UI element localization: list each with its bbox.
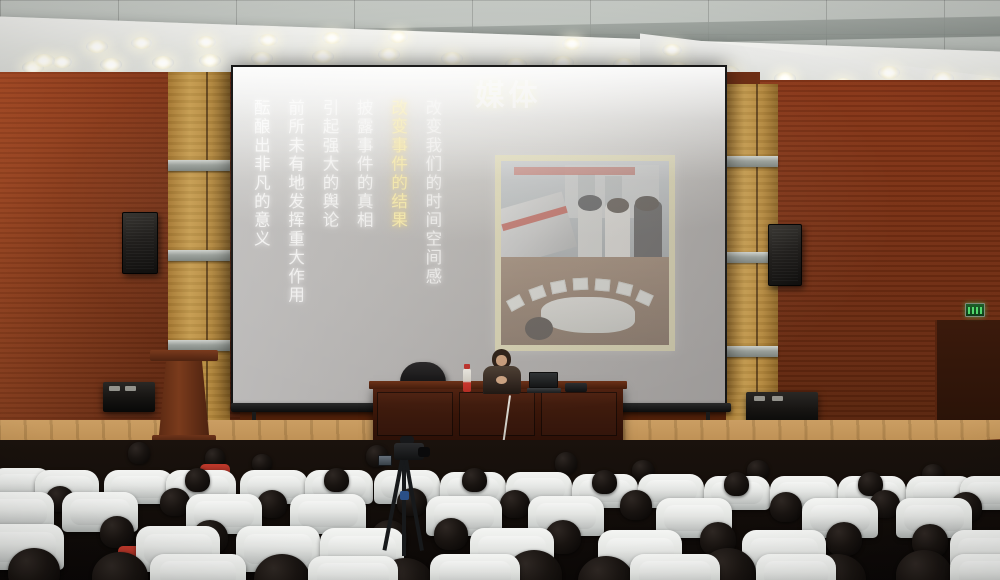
audience-member — [128, 442, 150, 464]
projection-screen: 媒体 改变我们的时间空间感 改变事件的结果 披露事件的真相 引起强大的舆论 前所… — [231, 65, 727, 405]
desk-equipment — [565, 383, 587, 392]
slide-photo-bottom — [501, 257, 669, 345]
wall-mounted-loudspeaker — [768, 224, 802, 286]
camera-lens — [418, 447, 430, 457]
ceiling-spotlight — [562, 38, 582, 50]
slide-column-2: 改变事件的结果 — [388, 99, 405, 230]
ceiling-spotlight — [131, 37, 152, 49]
audience-member — [100, 516, 134, 548]
audience-seat — [308, 556, 398, 580]
audience-member — [185, 468, 210, 492]
slide-column-1: 改变我们的时间空间感 — [423, 99, 440, 286]
audience-member — [620, 490, 652, 520]
audience-member — [724, 472, 749, 496]
slide-text-columns: 改变我们的时间空间感 改变事件的结果 披露事件的真相 引起强大的舆论 前所未有地… — [251, 99, 440, 369]
audience-seat — [950, 554, 1000, 580]
ceiling-spotlight — [196, 36, 216, 48]
ceiling-spotlight — [312, 50, 334, 63]
ceiling-spotlight — [322, 32, 342, 44]
tripod-adjustment-knob[interactable] — [400, 491, 409, 500]
ceiling-spotlight — [441, 52, 463, 65]
ceiling-spotlight — [878, 66, 900, 79]
slide-photo — [495, 155, 675, 351]
video-camera-on-tripod[interactable] — [378, 443, 440, 553]
audience-member — [592, 470, 617, 494]
ceiling-spotlight — [52, 56, 72, 68]
presenter — [481, 349, 523, 393]
ceiling-spotlight — [378, 48, 400, 61]
camera-flip-screen — [378, 455, 392, 466]
floor-loudspeaker — [103, 382, 155, 412]
ceiling-spotlight — [388, 31, 408, 43]
slide-column-4: 引起强大的舆论 — [320, 99, 337, 230]
wall-mounted-loudspeaker — [122, 212, 158, 274]
audience-seat — [150, 554, 246, 580]
water-bottle — [463, 368, 471, 392]
ceiling-spotlight — [199, 54, 221, 67]
slide-column-3: 披露事件的真相 — [354, 99, 371, 230]
auditorium-photo: 媒体 改变我们的时间空间感 改变事件的结果 披露事件的真相 引起强大的舆论 前所… — [0, 0, 1000, 580]
ceiling-spotlight — [86, 40, 108, 53]
audience-member — [896, 550, 952, 580]
audience-member — [770, 492, 802, 522]
audience-member — [324, 468, 349, 492]
audience-seat — [756, 554, 836, 580]
slide-column-6: 酝酿出非凡的意义 — [251, 99, 268, 249]
tripod-leg — [404, 460, 424, 551]
ceiling-spotlight — [152, 56, 174, 69]
emergency-exit-sign — [965, 303, 985, 317]
audience-area — [0, 440, 1000, 580]
laptop-right[interactable] — [527, 372, 561, 394]
slide-photo-top — [501, 161, 669, 257]
audience-member — [555, 452, 577, 474]
audience-member — [462, 468, 487, 492]
tripod-leg — [382, 460, 403, 551]
audience-seat — [430, 554, 520, 580]
podium — [150, 350, 218, 448]
audience-member — [500, 490, 530, 518]
ceiling-spotlight — [662, 44, 682, 56]
slide-title: 媒体 — [476, 72, 542, 114]
ceiling-spotlight — [258, 34, 278, 46]
audience-seat — [630, 554, 720, 580]
ceiling-spotlight — [251, 52, 273, 65]
slide-column-5: 前所未有地发挥重大作用 — [285, 99, 302, 305]
audience-member — [826, 522, 862, 556]
tripod-leg — [402, 460, 406, 556]
ceiling-spotlight — [100, 58, 122, 71]
